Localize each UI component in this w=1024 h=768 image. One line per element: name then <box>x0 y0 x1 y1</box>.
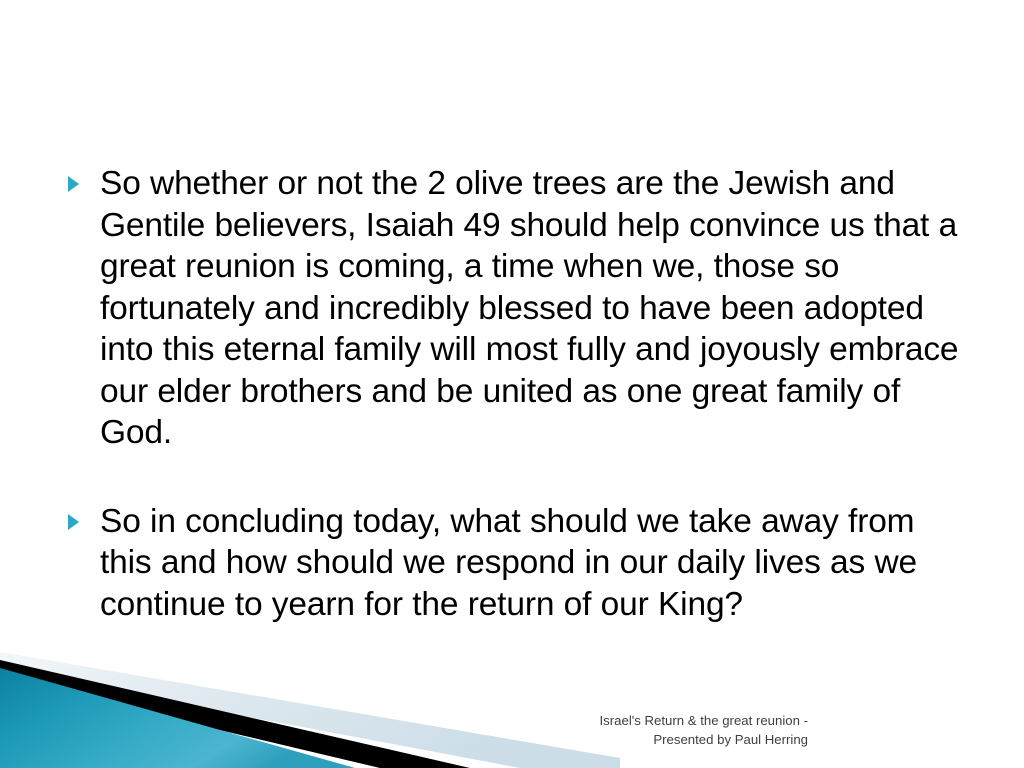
slide-footer: Israel's Return & the great reunion - Pr… <box>360 711 808 749</box>
triangle-right-icon <box>68 176 79 192</box>
bullet-paragraph-1: So whether or not the 2 olive trees are … <box>100 165 968 451</box>
banner-light-band <box>0 652 620 768</box>
list-item: So whether or not the 2 olive trees are … <box>62 163 962 454</box>
bullet-paragraph-2: So in concluding today, what should we t… <box>100 503 926 623</box>
footer-presenter-line: Presented by Paul Herring <box>360 730 808 749</box>
slide-canvas: So whether or not the 2 olive trees are … <box>0 0 1024 768</box>
banner-teal-wedge <box>0 668 355 768</box>
triangle-right-icon <box>68 514 79 530</box>
footer-title-line: Israel's Return & the great reunion - <box>360 711 808 730</box>
body-placeholder: So whether or not the 2 olive trees are … <box>62 163 962 625</box>
list-item: So in concluding today, what should we t… <box>62 501 962 626</box>
